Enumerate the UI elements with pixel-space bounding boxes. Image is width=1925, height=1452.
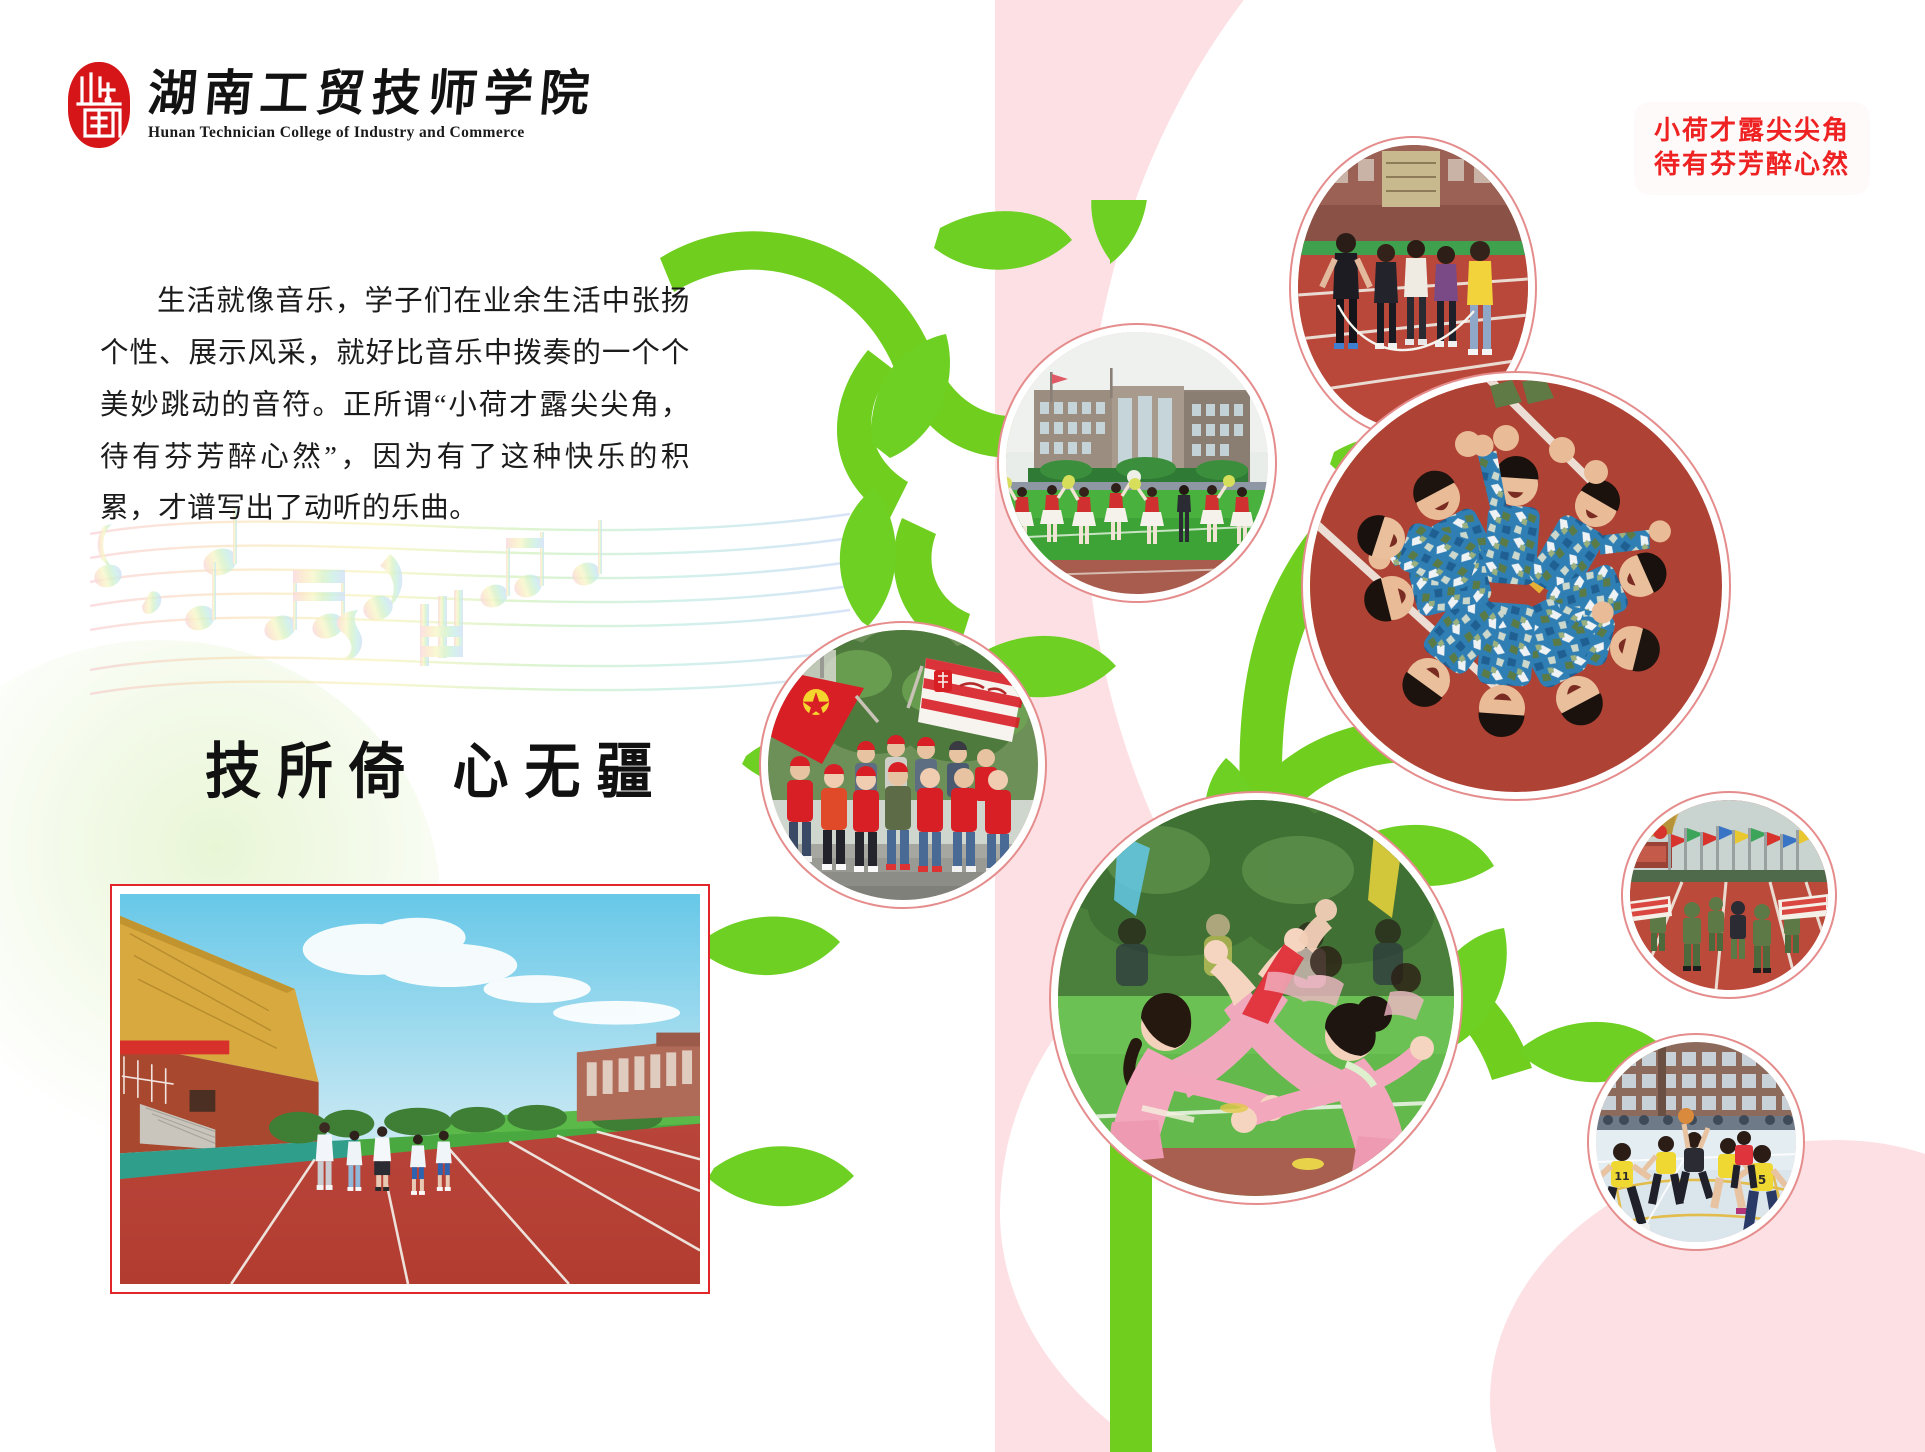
poem-badge: 小荷才露尖尖角 待有芬芳醉心然	[1634, 102, 1870, 195]
photo-military-training-circle	[1310, 380, 1722, 792]
photo-pink-gymnastics	[1058, 800, 1454, 1196]
page-title: 技所倚 心无疆	[205, 723, 669, 810]
poem-line-2: 待有芬芳醉心然	[1654, 147, 1850, 181]
body-paragraph: 生活就像音乐，学子们在业余生活中张扬个性、展示风采，就好比音乐中拨奏的一个个美妙…	[100, 276, 690, 535]
photo-basketball-match: 11	[1596, 1042, 1796, 1242]
school-name-en: Hunan Technician College of Industry and…	[148, 124, 596, 142]
body-copy: 生活就像音乐，学子们在业余生活中张扬个性、展示风采，就好比音乐中拨奏的一个个美妙…	[100, 276, 690, 535]
svg-text:11: 11	[1614, 1170, 1629, 1183]
photo-red-vest-volunteers	[768, 630, 1038, 900]
svg-text:5: 5	[1758, 1173, 1766, 1187]
brand-lockup: 湖南工贸技师学院 Hunan Technician College of Ind…	[68, 62, 596, 148]
school-seal-icon	[68, 62, 130, 148]
photo-track-walk	[110, 884, 710, 1294]
poem-line-1: 小荷才露尖尖角	[1654, 113, 1850, 147]
photo-campus-cheerleading	[1006, 332, 1268, 594]
photo-military-parade	[1630, 800, 1828, 990]
poster-page: 湖南工贸技师学院 Hunan Technician College of Ind…	[0, 0, 1925, 1452]
school-name-cn: 湖南工贸技师学院	[146, 68, 599, 120]
